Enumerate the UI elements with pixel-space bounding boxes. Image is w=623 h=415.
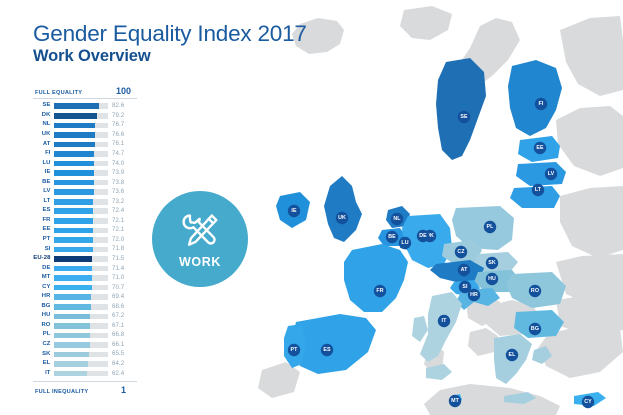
badge-label: PL: [487, 224, 495, 230]
bar-country-code: LT: [33, 199, 54, 205]
bar-track: [54, 161, 108, 167]
scale-top: FULL EQUALITY 100: [33, 86, 137, 96]
badge-label: CY: [584, 399, 592, 405]
badge-label: SK: [488, 260, 496, 266]
bar-value: 66.1: [108, 342, 137, 348]
bar-value: 62.4: [108, 371, 137, 377]
bar-row: CZ66.1: [33, 340, 137, 350]
badge-label: SE: [460, 114, 468, 120]
bar-track: [54, 247, 108, 253]
bar-value: 67.1: [108, 323, 137, 329]
scale-divider-top: [33, 98, 137, 99]
bar-country-code: BE: [33, 180, 54, 186]
bar-value: 67.2: [108, 313, 137, 319]
bar-row: HU67.2: [33, 312, 137, 322]
badge-label: AT: [461, 267, 469, 273]
bar-fill: [54, 132, 95, 138]
bar-track: [54, 352, 108, 358]
country-UK: [324, 176, 362, 242]
badge-label: HU: [488, 276, 496, 282]
badge-label: UK: [338, 215, 346, 221]
bar-row: UK76.6: [33, 130, 137, 140]
bar-row: AT76.1: [33, 140, 137, 150]
country-badge-LU: LU: [399, 237, 411, 249]
bar-track: [54, 371, 108, 377]
bar-row: EE72.1: [33, 226, 137, 236]
badge-label: EE: [536, 145, 544, 151]
bar-value: 72.1: [108, 227, 137, 233]
bar-country-code: LV: [33, 189, 54, 195]
bar-fill: [54, 275, 92, 281]
country-badge-AT: AT: [458, 264, 470, 276]
bar-row: EL64.2: [33, 359, 137, 369]
badge-label: MT: [451, 398, 460, 404]
bar-fill: [54, 285, 92, 291]
country-badge-HU: HU: [486, 273, 498, 285]
badge-label: NL: [393, 216, 401, 222]
bar-country-code: UK: [33, 132, 54, 138]
bar-row: SI71.8: [33, 245, 137, 255]
bar-fill: [54, 323, 90, 329]
bar-country-code: SK: [33, 352, 54, 358]
bar-track: [54, 180, 108, 186]
bar-track: [54, 266, 108, 272]
bar-value: 72.0: [108, 237, 137, 243]
bar-row: LU74.0: [33, 159, 137, 169]
bar-fill: [54, 228, 93, 234]
bar-track: [54, 103, 108, 109]
bar-country-code: SE: [33, 103, 54, 109]
badge-label: RO: [531, 288, 539, 294]
bar-row: IE73.9: [33, 168, 137, 178]
bar-row: NL76.7: [33, 121, 137, 131]
country-badge-HR: HR: [468, 289, 480, 301]
badge-label: SI: [462, 284, 468, 290]
badge-label: CZ: [457, 249, 465, 255]
bar-row: FI74.7: [33, 149, 137, 159]
scale-top-caption: FULL EQUALITY: [35, 90, 82, 96]
work-domain-badge: WORK: [152, 191, 248, 287]
bar-fill: [54, 371, 87, 377]
badge-label: EL: [509, 352, 517, 358]
bar-country-code: FR: [33, 218, 54, 224]
bar-row: SK65.5: [33, 350, 137, 360]
badge-label: PT: [291, 347, 299, 353]
bar-value: 72.1: [108, 218, 137, 224]
bar-country-code: MT: [33, 275, 54, 281]
bar-value: 76.7: [108, 122, 137, 128]
bar-row: ES72.4: [33, 207, 137, 217]
country-FI: [508, 60, 562, 136]
scale-bottom-value: 1: [121, 385, 126, 395]
work-label: WORK: [179, 255, 221, 269]
bar-country-code: DE: [33, 266, 54, 272]
bar-value: 74.7: [108, 151, 137, 157]
bar-fill: [54, 361, 88, 367]
infographic-page: SEDKNLUKATFILUIEBELVLTESFREEPTSIDEMTCYHR…: [0, 0, 623, 415]
bar-track: [54, 323, 108, 329]
bar-track: [54, 275, 108, 281]
bar-track: [54, 256, 108, 262]
country-badge-FI: FI: [535, 98, 547, 110]
country-badge-EL: EL: [506, 349, 518, 361]
bar-value: 68.6: [108, 304, 137, 310]
bar-value: 73.9: [108, 170, 137, 176]
bar-list: SE82.6DK79.2NL76.7UK76.6AT76.1FI74.7LU74…: [33, 102, 137, 379]
bar-fill: [54, 314, 90, 320]
badge-label: LV: [548, 171, 555, 177]
country-badge-LV: LV: [545, 168, 557, 180]
bar-fill: [54, 180, 94, 186]
bar-row: MT71.0: [33, 273, 137, 283]
country-badge-DE: DE: [417, 230, 429, 242]
bar-country-code: PT: [33, 237, 54, 243]
bar-value: 72.4: [108, 208, 137, 214]
bar-track: [54, 285, 108, 291]
bar-country-code: IT: [33, 371, 54, 377]
bar-value: 76.6: [108, 132, 137, 138]
bar-fill: [54, 208, 93, 214]
bar-fill: [54, 294, 91, 300]
country-badge-BG: BG: [529, 323, 541, 335]
bar-country-code: ES: [33, 208, 54, 214]
bar-fill: [54, 304, 91, 310]
bar-row: PT72.0: [33, 235, 137, 245]
wrench-pencil-icon: [178, 211, 222, 251]
bar-fill: [54, 189, 94, 195]
bar-country-code: SI: [33, 247, 54, 253]
bar-track: [54, 208, 108, 214]
bar-row: BG68.6: [33, 302, 137, 312]
bar-value: 74.0: [108, 161, 137, 167]
badge-label: FI: [539, 101, 544, 107]
bar-country-code: EL: [33, 361, 54, 367]
country-IT-sardinia: [412, 316, 428, 342]
country-FR: [344, 244, 408, 312]
badge-label: BG: [531, 326, 539, 332]
badge-label: IE: [291, 208, 297, 214]
bar-track: [54, 170, 108, 176]
bar-track: [54, 132, 108, 138]
bar-track: [54, 123, 108, 129]
badge-label: ES: [323, 347, 331, 353]
country-badge-CZ: CZ: [455, 246, 467, 258]
bar-country-code: DK: [33, 113, 54, 119]
country-badge-NL: NL: [391, 213, 403, 225]
page-header: Gender Equality Index 2017 Work Overview: [33, 21, 307, 66]
bar-fill: [54, 247, 93, 253]
bar-row: RO67.1: [33, 321, 137, 331]
scale-bottom-caption: FULL INEQUALITY: [35, 389, 88, 395]
bar-fill: [54, 237, 93, 243]
country-badge-FR: FR: [374, 285, 386, 297]
bar-value: 73.6: [108, 189, 137, 195]
bar-track: [54, 361, 108, 367]
bar-value: 71.0: [108, 275, 137, 281]
bar-track: [54, 228, 108, 234]
bar-track: [54, 294, 108, 300]
country-badge-ES: ES: [321, 344, 333, 356]
page-subtitle: Work Overview: [33, 47, 307, 66]
bar-country-code: PL: [33, 332, 54, 338]
country-badge-RO: RO: [529, 285, 541, 297]
bar-track: [54, 199, 108, 205]
bar-value: 71.5: [108, 256, 137, 262]
badge-label: IT: [442, 318, 448, 324]
country-badge-UK: UK: [336, 212, 348, 224]
bar-track: [54, 151, 108, 157]
bar-track: [54, 333, 108, 339]
bar-track: [54, 342, 108, 348]
bar-row: EU-2871.5: [33, 254, 137, 264]
scale-top-value: 100: [116, 86, 131, 96]
bar-country-code: RO: [33, 323, 54, 329]
badge-label: DE: [419, 233, 427, 239]
bar-country-code: CZ: [33, 342, 54, 348]
bar-row: BE73.8: [33, 178, 137, 188]
bar-country-code: AT: [33, 142, 54, 148]
bar-track: [54, 314, 108, 320]
bar-track: [54, 237, 108, 243]
bar-value: 82.6: [108, 103, 137, 109]
bar-fill: [54, 352, 89, 358]
bar-fill: [54, 151, 94, 157]
bar-country-code: LU: [33, 161, 54, 167]
scale-bottom: FULL INEQUALITY 1: [33, 385, 137, 395]
country-badge-SE: SE: [458, 111, 470, 123]
country-ranking-chart: FULL EQUALITY 100 SE82.6DK79.2NL76.7UK76…: [33, 86, 137, 395]
bar-value: 76.1: [108, 141, 137, 147]
bar-country-code: HU: [33, 313, 54, 319]
bar-row: FR72.1: [33, 216, 137, 226]
country-LV: [516, 162, 566, 186]
badge-label: LU: [401, 240, 408, 246]
bar-country-code: NL: [33, 122, 54, 128]
bar-row: PL66.8: [33, 331, 137, 341]
bar-fill: [54, 218, 93, 224]
country-badge-EE: EE: [534, 142, 546, 154]
country-badge-IE: IE: [288, 205, 300, 217]
bar-value: 73.8: [108, 180, 137, 186]
bar-row: DE71.4: [33, 264, 137, 274]
badge-label: HR: [470, 292, 478, 298]
bar-value: 70.7: [108, 285, 137, 291]
bar-value: 64.2: [108, 361, 137, 367]
bar-fill: [54, 123, 95, 129]
bar-track: [54, 142, 108, 148]
bar-country-code: HR: [33, 294, 54, 300]
bar-track: [54, 218, 108, 224]
bar-fill: [54, 142, 95, 148]
bar-fill: [54, 170, 94, 176]
country-badge-CY: CY: [582, 396, 594, 408]
bar-country-code: BG: [33, 304, 54, 310]
badge-label: FR: [376, 288, 383, 294]
badge-label: LT: [535, 187, 542, 193]
bar-value: 65.5: [108, 351, 137, 357]
bar-fill: [54, 113, 97, 119]
bar-track: [54, 189, 108, 195]
country-badge-IT: IT: [438, 315, 450, 327]
bar-row: SE82.6: [33, 102, 137, 112]
country-badge-MT: MT: [449, 395, 461, 407]
bar-track: [54, 304, 108, 310]
bar-row: CY70.7: [33, 283, 137, 293]
bar-country-code: EE: [33, 227, 54, 233]
bar-fill: [54, 256, 92, 262]
bar-fill: [54, 266, 92, 272]
country-badge-SK: SK: [486, 257, 498, 269]
bar-fill: [54, 342, 90, 348]
bar-country-code: CY: [33, 285, 54, 291]
bar-row: IT62.4: [33, 369, 137, 379]
country-badge-BE: BE: [386, 231, 398, 243]
country-badge-PT: PT: [288, 344, 300, 356]
bar-country-code: IE: [33, 170, 54, 176]
bar-value: 66.8: [108, 332, 137, 338]
bar-fill: [54, 333, 90, 339]
bar-value: 69.4: [108, 294, 137, 300]
bar-country-code: FI: [33, 151, 54, 157]
bar-value: 71.4: [108, 266, 137, 272]
bar-value: 79.2: [108, 113, 137, 119]
badge-label: BE: [388, 234, 396, 240]
bar-track: [54, 113, 108, 119]
bar-value: 73.2: [108, 199, 137, 205]
bar-row: HR69.4: [33, 292, 137, 302]
country-SE: [436, 58, 486, 160]
bar-fill: [54, 161, 94, 167]
bar-row: LT73.2: [33, 197, 137, 207]
country-badge-PL: PL: [484, 221, 496, 233]
bar-country-code: EU-28: [33, 256, 54, 262]
scale-divider-bottom: [33, 381, 137, 382]
bar-fill: [54, 199, 93, 205]
page-title: Gender Equality Index 2017: [33, 21, 307, 46]
bar-row: DK79.2: [33, 111, 137, 121]
bar-row: LV73.6: [33, 187, 137, 197]
bar-fill: [54, 103, 99, 109]
country-badge-LT: LT: [532, 184, 544, 196]
bar-value: 71.8: [108, 246, 137, 252]
